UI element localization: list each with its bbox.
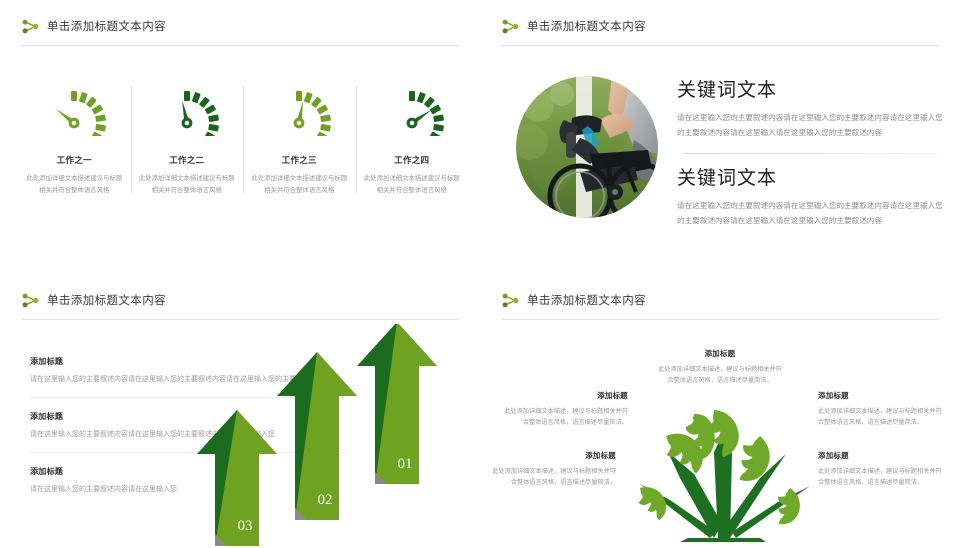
plant-label-desc-1: 此处添加详细文本描述，建议与标题相关并符合整体语言风格，语言描述尽量简洁。 (657, 364, 783, 387)
plant-label-left-top[interactable]: 添加标题 此处添加详细文本描述，建议与标题相关并符合整体语言风格，语言描述尽量简… (502, 390, 628, 429)
keyword-body-2: 请在这里输入您的主要叙述内容请在这里输入您的主要叙述内容请在这里输入您的主要叙述… (677, 199, 946, 229)
plant-label-desc-3: 此处添加详细文本描述，建议与标题相关并符合整体语言风格，语言描述尽量简洁。 (490, 466, 616, 489)
gauge-item-1[interactable]: 工作之一 此处添加详细文本描述建议与标题相关并符合整体语言风格 (18, 78, 131, 197)
panel-arrows: 单击添加标题文本内容 添加标题 请在这里输入您的主要叙述内容请在这里输入您的主要… (0, 274, 480, 548)
cyclist-photo[interactable] (516, 76, 658, 218)
plant-label-desc-4: 此处添加详细文本描述，建议与标题相关并符合整体语言风格，语言描述尽量简洁。 (818, 406, 944, 429)
gauge-desc-3: 此处添加详细文本描述建议与标题相关并符合整体语言风格 (251, 173, 348, 197)
gauge-title-3: 工作之三 (282, 154, 317, 166)
gauge-desc-4: 此处添加详细文本描述建议与标题相关并符合整体语言风格 (364, 173, 461, 197)
keyword-divider (683, 153, 946, 154)
panel-gauges: 单击添加标题文本内容 (0, 0, 480, 274)
node-network-icon (22, 19, 39, 34)
arrow-step-number-02: 02 (318, 492, 333, 508)
cyclist-photo-image (516, 76, 658, 218)
gauge-icon-4 (375, 78, 449, 136)
gauge-icon-2 (150, 78, 224, 136)
keyword-body-1: 请在这里输入您的主要叙述内容请在这里输入您的主要叙述内容请在这里输入您的主要叙述… (677, 111, 946, 141)
node-network-icon (22, 293, 39, 308)
arrow-step-03: 03 (197, 410, 277, 546)
keyword-blocks: 关键词文本 请在这里输入您的主要叙述内容请在这里输入您的主要叙述内容请在这里输入… (677, 79, 946, 229)
panel-plant-title: 单击添加标题文本内容 (527, 292, 646, 308)
plant-label-desc-2: 此处添加详细文本描述，建议与标题相关并符合整体语言风格，语言描述尽量简洁。 (502, 406, 628, 429)
panel-plant: 单击添加标题文本内容 (480, 274, 960, 548)
arrow-step-02: 02 (277, 352, 357, 520)
plant-label-right-bottom[interactable]: 添加标题 此处添加详细文本描述，建议与标题相关并符合整体语言风格，语言描述尽量简… (818, 450, 944, 489)
panel-arrows-title: 单击添加标题文本内容 (47, 292, 166, 308)
panel-keyword: 单击添加标题文本内容 (480, 0, 960, 274)
node-network-icon (502, 19, 519, 34)
keyword-block-2: 关键词文本 请在这里输入您的主要叙述内容请在这里输入您的主要叙述内容请在这里输入… (677, 167, 946, 228)
plant-graphic (610, 392, 840, 542)
panel-arrows-header: 单击添加标题文本内容 (22, 290, 458, 320)
plant-label-title-3: 添加标题 (490, 450, 616, 461)
gauge-item-2[interactable]: 工作之二 此处添加详细文本描述建议与标题相关并符合整体语言风格 (131, 78, 244, 197)
gauge-title-2: 工作之二 (169, 154, 204, 166)
gauge-item-3[interactable]: 工作之三 此处添加详细文本描述建议与标题相关并符合整体语言风格 (243, 78, 356, 197)
gauge-title-1: 工作之一 (57, 154, 92, 166)
gauge-desc-1: 此处添加详细文本描述建议与标题相关并符合整体语言风格 (26, 173, 123, 197)
plant-label-title-5: 添加标题 (818, 450, 944, 461)
gauge-title-4: 工作之四 (394, 154, 429, 166)
plant-label-right-top[interactable]: 添加标题 此处添加详细文本描述，建议与标题相关并符合整体语言风格，语言描述尽量简… (818, 390, 944, 429)
gauge-icon-1 (37, 78, 111, 136)
plant-label-left-bottom[interactable]: 添加标题 此处添加详细文本描述，建议与标题相关并符合整体语言风格，语言描述尽量简… (490, 450, 616, 489)
keyword-block-1: 关键词文本 请在这里输入您的主要叙述内容请在这里输入您的主要叙述内容请在这里输入… (677, 79, 946, 140)
panel-keyword-title: 单击添加标题文本内容 (527, 18, 646, 34)
panel-keyword-header: 单击添加标题文本内容 (502, 16, 938, 46)
gauge-icon-3 (262, 78, 336, 136)
arrow-step-01: 01 (357, 324, 437, 484)
keyword-title-1: 关键词文本 (677, 79, 946, 103)
plant-label-desc-5: 此处添加详细文本描述，建议与标题相关并符合整体语言风格，语言描述尽量简洁。 (818, 466, 944, 489)
gauge-item-4[interactable]: 工作之四 此处添加详细文本描述建议与标题相关并符合整体语言风格 (356, 78, 469, 197)
slide-canvas: 单击添加标题文本内容 (0, 0, 960, 548)
panel-gauges-header: 单击添加标题文本内容 (22, 16, 458, 46)
gauge-list: 工作之一 此处添加详细文本描述建议与标题相关并符合整体语言风格 (18, 78, 468, 197)
plant-label-title-4: 添加标题 (818, 390, 944, 401)
panel-plant-header: 单击添加标题文本内容 (502, 290, 938, 320)
arrow-step-number-03: 03 (238, 518, 253, 534)
ascending-arrows-graphic: 03 02 01 (175, 324, 475, 548)
plant-label-title-1: 添加标题 (657, 348, 783, 359)
panel-gauges-title: 单击添加标题文本内容 (47, 18, 166, 34)
node-network-icon (502, 293, 519, 308)
keyword-title-2: 关键词文本 (677, 167, 946, 191)
gauge-desc-2: 此处添加详细文本描述建议与标题相关并符合整体语言风格 (139, 173, 236, 197)
plant-label-top[interactable]: 添加标题 此处添加详细文本描述，建议与标题相关并符合整体语言风格，语言描述尽量简… (657, 348, 783, 387)
plant-label-title-2: 添加标题 (502, 390, 628, 401)
arrow-step-number-01: 01 (398, 456, 413, 472)
